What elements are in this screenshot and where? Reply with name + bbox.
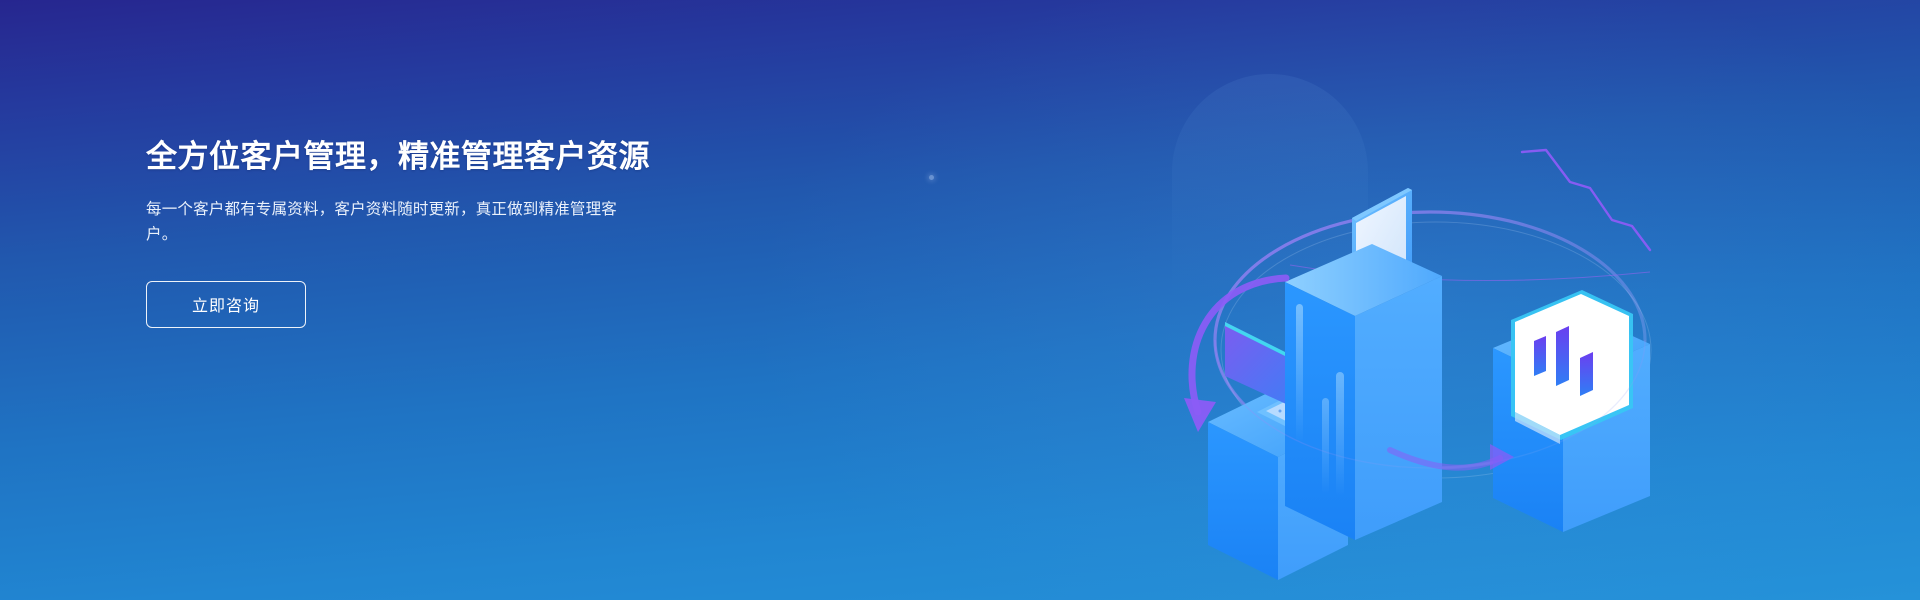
hero-illustration [1090, 20, 1810, 580]
consult-now-button[interactable]: 立即咨询 [146, 281, 306, 328]
page-title: 全方位客户管理，精准管理客户资源 [146, 138, 786, 177]
center-pillar-with-tablet [1285, 188, 1442, 540]
hero-banner: 全方位客户管理，精准管理客户资源 每一个客户都有专属资料，客户资料随时更新，真正… [0, 0, 1920, 600]
right-pillar-with-monitor [1493, 290, 1650, 532]
hero-subtitle: 每一个客户都有专属资料，客户资料随时更新，真正做到精准管理客户。 [146, 197, 636, 247]
sparkle-dot-icon [929, 175, 934, 180]
zigzag-line [1522, 150, 1650, 250]
hero-copy-block: 全方位客户管理，精准管理客户资源 每一个客户都有专属资料，客户资料随时更新，真正… [146, 138, 786, 328]
